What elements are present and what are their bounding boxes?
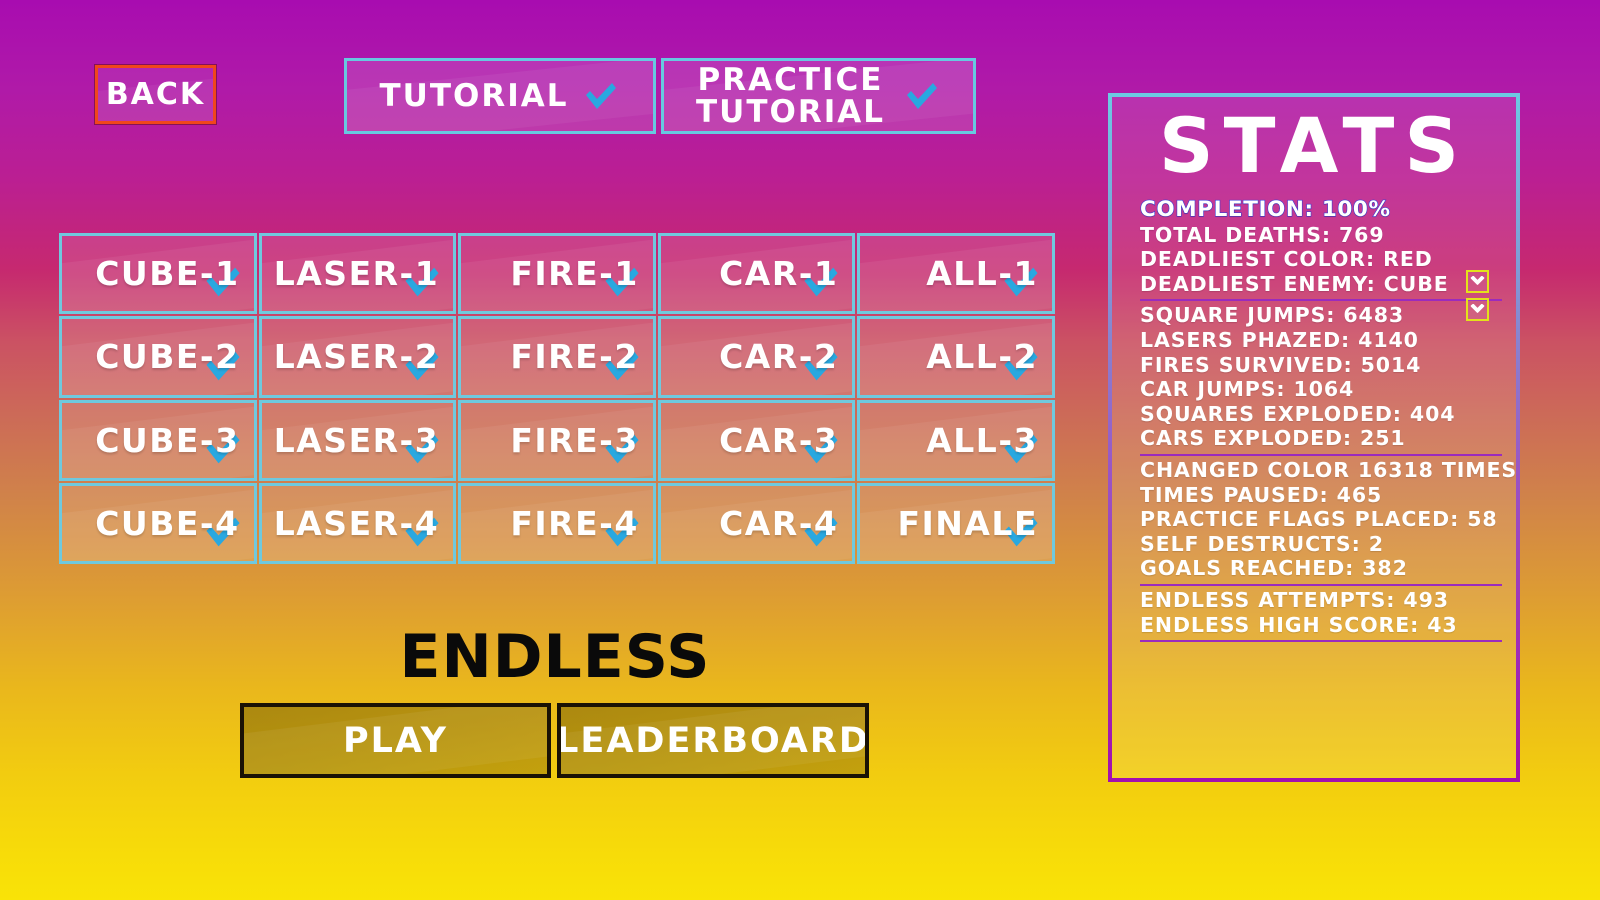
stat-line: CAR JUMPS: 1064 (1140, 377, 1502, 402)
level-button[interactable]: CUBE-3 (59, 400, 257, 481)
level-button-label: LASER-3 (274, 421, 439, 460)
level-grid: CUBE-1LASER-1FIRE-1CAR-1ALL-1CUBE-2LASER… (59, 233, 1055, 564)
stat-line: SQUARE JUMPS: 6483 (1140, 303, 1502, 328)
endless-section-title: ENDLESS (0, 622, 1110, 692)
stat-line: SELF DESTRUCTS: 2 (1140, 532, 1502, 557)
tutorial-button-label: TUTORIAL (380, 78, 569, 114)
level-button[interactable]: FIRE-4 (458, 483, 656, 564)
chevron-down-icon (1470, 300, 1485, 319)
level-button-label: FIRE-4 (510, 504, 638, 543)
chevron-down-icon (1470, 272, 1485, 291)
stats-list: COMPLETION: 100%TOTAL DEATHS: 769DEADLIE… (1112, 198, 1516, 642)
level-button-label: CUBE-2 (95, 337, 239, 376)
level-button-label: FINALE (897, 504, 1038, 543)
stat-line: ENDLESS HIGH SCORE: 43 (1140, 613, 1502, 638)
level-button-label: CAR-3 (719, 421, 838, 460)
level-button[interactable]: CAR-3 (658, 400, 856, 481)
level-button[interactable]: ALL-2 (857, 316, 1055, 397)
stat-line: FIRES SURVIVED: 5014 (1140, 353, 1502, 378)
endless-play-button[interactable]: PLAY (240, 703, 551, 778)
level-button[interactable]: FIRE-1 (458, 233, 656, 314)
stats-separator (1140, 299, 1502, 301)
check-icon (582, 77, 620, 115)
level-button-label: ALL-1 (926, 254, 1038, 293)
endless-play-label: PLAY (343, 721, 448, 761)
level-button[interactable]: LASER-3 (259, 400, 457, 481)
level-button[interactable]: CUBE-1 (59, 233, 257, 314)
level-button[interactable]: CAR-2 (658, 316, 856, 397)
stat-line: DEADLIEST COLOR: RED (1140, 247, 1502, 272)
deadliest-enemy-dropdown-button[interactable] (1466, 298, 1489, 321)
level-button-label: CAR-1 (719, 254, 838, 293)
level-button[interactable]: LASER-1 (259, 233, 457, 314)
level-button-label: CAR-4 (719, 504, 838, 543)
practice-tutorial-line2: TUTORIAL (696, 94, 885, 130)
stat-line: PRACTICE FLAGS PLACED: 58 (1140, 507, 1502, 532)
level-button[interactable]: CAR-1 (658, 233, 856, 314)
practice-tutorial-button-label: PRACTICETUTORIAL (696, 64, 885, 128)
level-button-label: ALL-2 (926, 337, 1038, 376)
stats-separator (1140, 640, 1502, 642)
endless-leaderboard-label: LEADERBOARD (557, 721, 869, 761)
level-button-label: CUBE-4 (95, 504, 239, 543)
stat-line: CARS EXPLODED: 251 (1140, 426, 1502, 451)
level-button-label: CUBE-1 (95, 254, 239, 293)
tutorial-button[interactable]: TUTORIAL (344, 58, 656, 134)
back-button-label: BACK (106, 77, 205, 112)
stats-separator (1140, 454, 1502, 456)
stats-separator (1140, 584, 1502, 586)
stat-line: ENDLESS ATTEMPTS: 493 (1140, 588, 1502, 613)
back-button[interactable]: BACK (95, 65, 216, 124)
level-button-label: LASER-2 (274, 337, 439, 376)
check-icon (903, 77, 941, 115)
stat-line: GOALS REACHED: 382 (1140, 556, 1502, 581)
stat-line: TOTAL DEATHS: 769 (1140, 223, 1502, 248)
stat-line: COMPLETION: 100% (1140, 198, 1502, 223)
level-button[interactable]: ALL-3 (857, 400, 1055, 481)
stat-line: DEADLIEST ENEMY: CUBE (1140, 272, 1502, 297)
deadliest-color-dropdown-button[interactable] (1466, 270, 1489, 293)
stat-line: CHANGED COLOR 16318 TIMES (1140, 458, 1502, 483)
level-button-label: FIRE-3 (510, 421, 638, 460)
level-button-label: ALL-3 (926, 421, 1038, 460)
level-button-label: FIRE-1 (510, 254, 638, 293)
level-button-label: CAR-2 (719, 337, 838, 376)
level-button[interactable]: FIRE-3 (458, 400, 656, 481)
level-button[interactable]: LASER-2 (259, 316, 457, 397)
stat-line: SQUARES EXPLODED: 404 (1140, 402, 1502, 427)
endless-leaderboard-button[interactable]: LEADERBOARD (557, 703, 869, 778)
level-button[interactable]: FIRE-2 (458, 316, 656, 397)
level-button-label: CUBE-3 (95, 421, 239, 460)
level-button-label: FIRE-2 (510, 337, 638, 376)
stat-line: LASERS PHAZED: 4140 (1140, 328, 1502, 353)
level-button[interactable]: FINALE (857, 483, 1055, 564)
level-button-label: LASER-4 (274, 504, 439, 543)
level-button-label: LASER-1 (274, 254, 439, 293)
practice-tutorial-button[interactable]: PRACTICETUTORIAL (661, 58, 976, 134)
level-button[interactable]: CUBE-2 (59, 316, 257, 397)
level-button[interactable]: LASER-4 (259, 483, 457, 564)
stats-panel-title: STATS (1112, 108, 1516, 184)
level-button[interactable]: ALL-1 (857, 233, 1055, 314)
level-button[interactable]: CUBE-4 (59, 483, 257, 564)
level-button[interactable]: CAR-4 (658, 483, 856, 564)
stat-line: TIMES PAUSED: 465 (1140, 483, 1502, 508)
stats-panel: STATS COMPLETION: 100%TOTAL DEATHS: 769D… (1108, 93, 1520, 782)
practice-tutorial-line1: PRACTICE (698, 62, 884, 98)
